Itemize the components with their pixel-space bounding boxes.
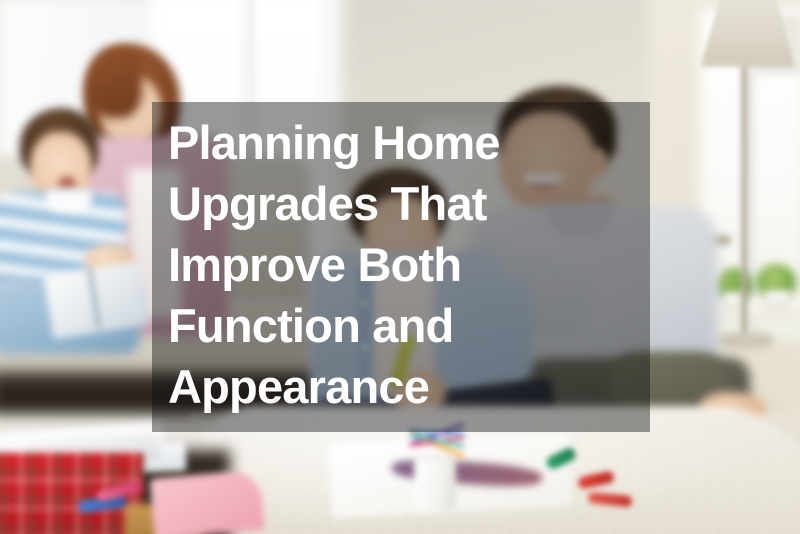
plant-pot-right [764, 290, 790, 312]
pink-paper [150, 469, 265, 534]
boy-book-mouth [58, 176, 76, 190]
boy-book-collar [46, 190, 92, 212]
marker-cup [414, 456, 456, 512]
page-title: Planning Home Upgrades That Improve Both… [168, 112, 668, 417]
lamp-pole [741, 66, 747, 341]
lamp-base [716, 332, 774, 348]
woman-hair-front [86, 46, 142, 118]
article-hero-banner: Planning Home Upgrades That Improve Both… [0, 0, 800, 534]
